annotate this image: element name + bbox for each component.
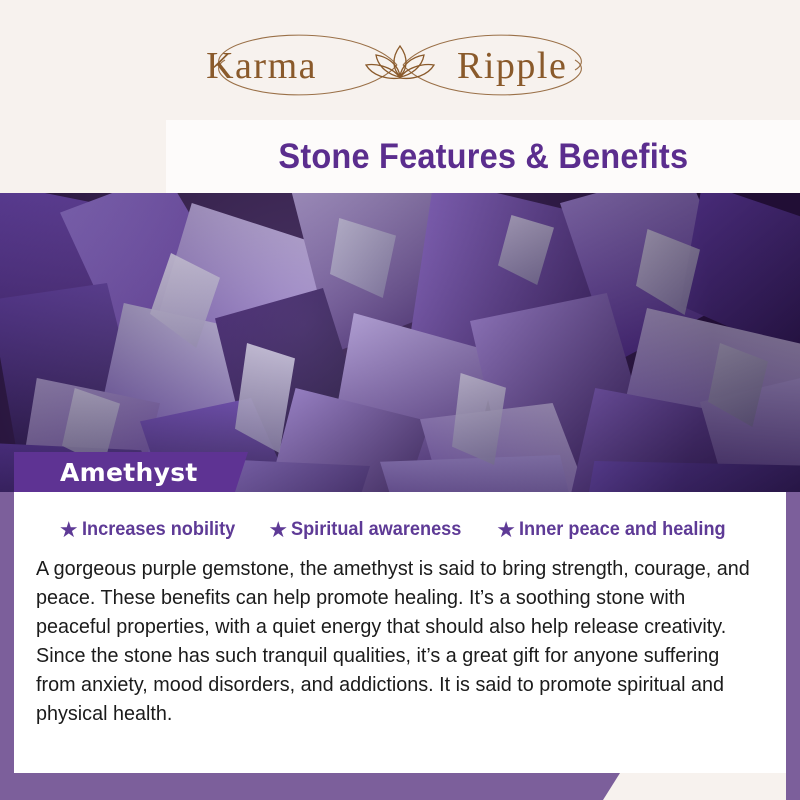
- star-icon: ★: [59, 519, 79, 541]
- benefit-item-3: ★ Inner peace and healing: [496, 518, 741, 541]
- header: Karma Ripple: [0, 0, 800, 120]
- benefit-item-1: ★ Increases nobility: [59, 518, 246, 541]
- benefits-row: ★ Increases nobility ★ Spiritual awarene…: [14, 518, 786, 541]
- infographic-page: Karma Ripple Stone Features & Benefits: [0, 0, 800, 800]
- description-paragraph: A gorgeous purple gemstone, the amethyst…: [36, 554, 750, 728]
- benefit-item-2: ★ Spiritual awareness: [268, 518, 474, 541]
- content-area: ★ Increases nobility ★ Spiritual awarene…: [14, 492, 786, 773]
- stone-name-banner: Amethyst: [14, 452, 248, 492]
- brand-logo: Karma Ripple: [0, 28, 800, 102]
- brand-name-left: Karma: [206, 45, 317, 87]
- benefit-label-2: Spiritual awareness: [291, 518, 461, 541]
- amethyst-photo: [0, 193, 800, 492]
- lotus-icon: [366, 46, 434, 78]
- stone-name-label: Amethyst: [60, 458, 198, 487]
- page-title: Stone Features & Benefits: [278, 137, 688, 177]
- frame-band-bottom: [0, 773, 620, 800]
- benefit-label-3: Inner peace and healing: [519, 518, 726, 541]
- brand-name-right: Ripple: [457, 45, 567, 87]
- brand-logo-svg: Karma Ripple: [165, 28, 635, 102]
- star-icon: ★: [496, 519, 516, 541]
- benefit-label-1: Increases nobility: [82, 518, 235, 541]
- star-icon: ★: [268, 519, 288, 541]
- title-panel: Stone Features & Benefits: [166, 120, 800, 193]
